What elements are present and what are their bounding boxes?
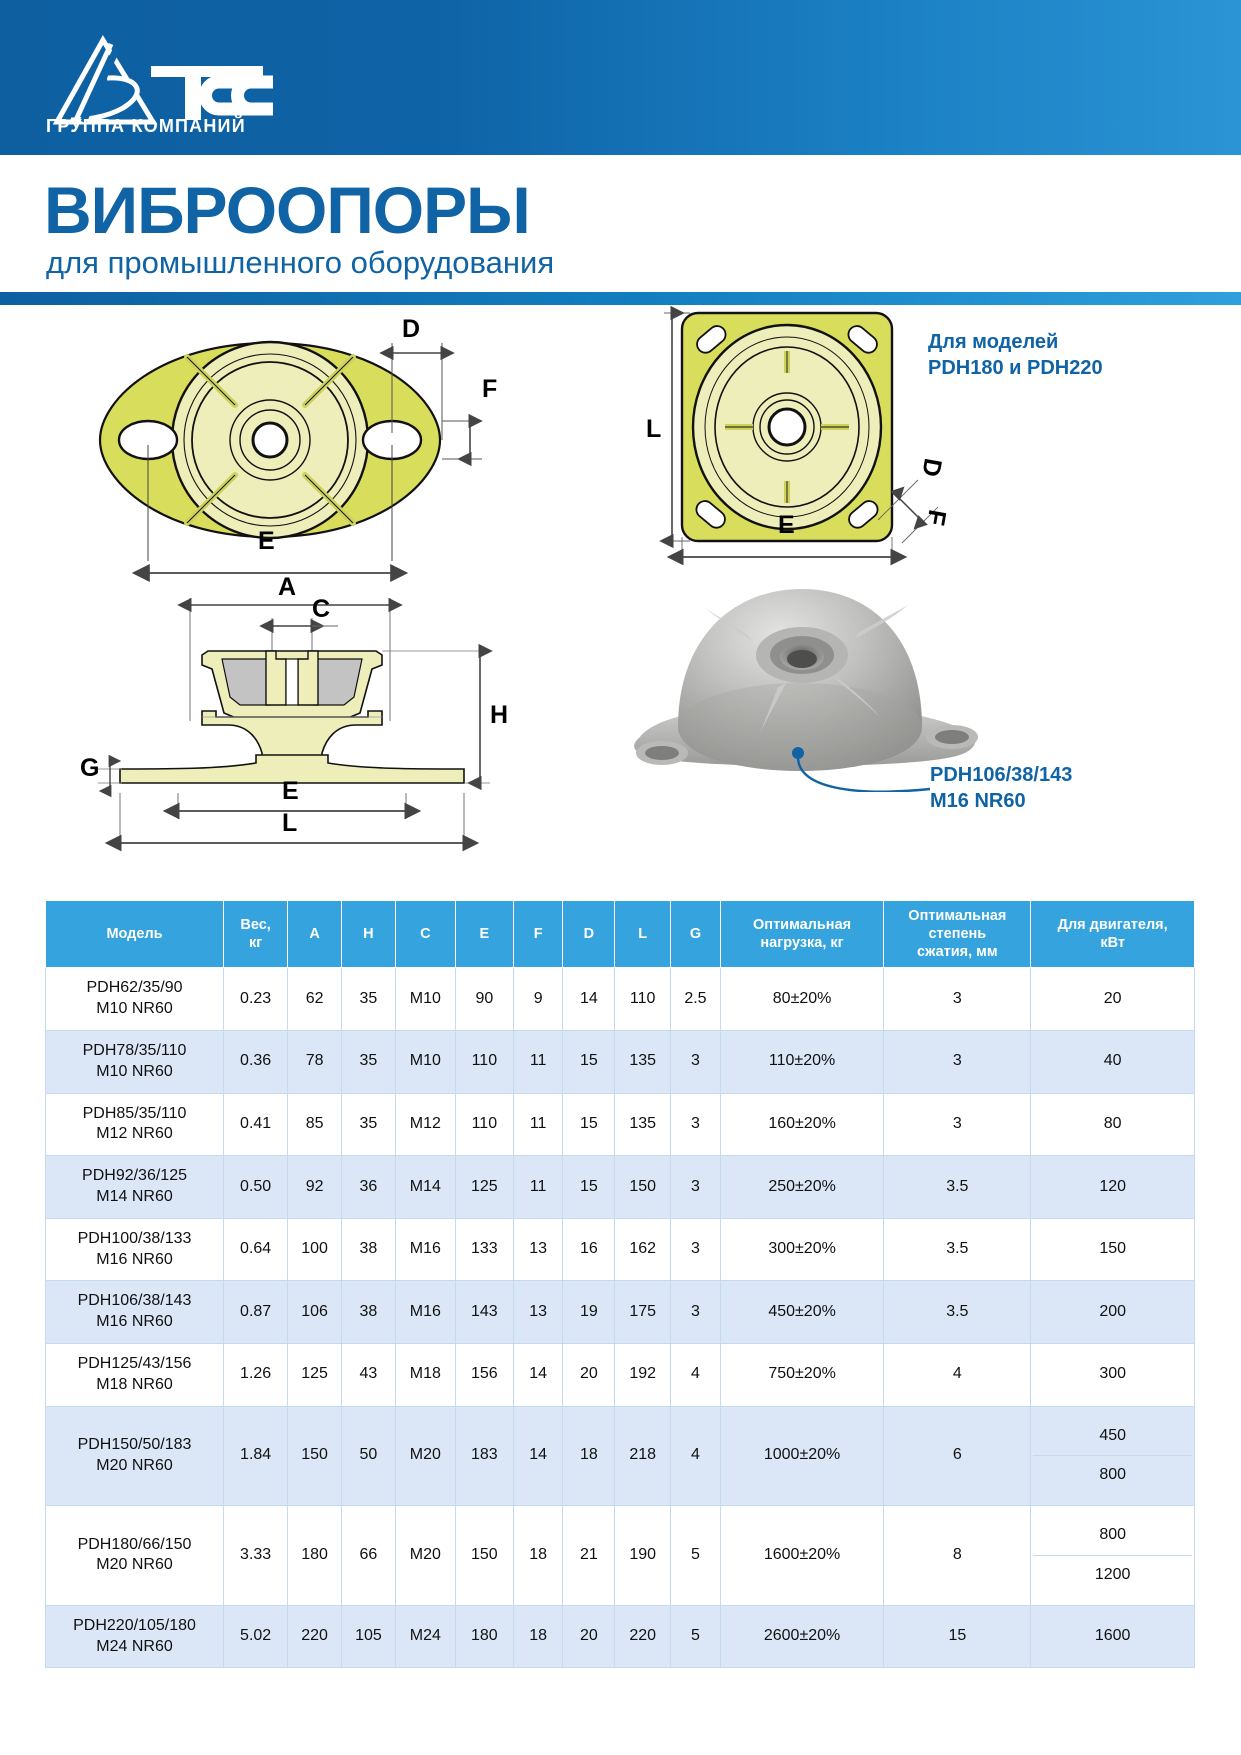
th-d: D xyxy=(563,901,615,968)
th-weight: Вес, кг xyxy=(224,901,288,968)
cell-motor-sub: 1200 xyxy=(1033,1556,1192,1595)
model-line2: M20 NR60 xyxy=(96,1556,172,1573)
cell-c: M10 xyxy=(395,968,455,1031)
model-line2: M24 NR60 xyxy=(96,1638,172,1655)
cell-f: 18 xyxy=(513,1506,563,1606)
cell-motor: 120 xyxy=(1031,1156,1195,1219)
cell-compression: 4 xyxy=(884,1343,1031,1406)
cell-motor-sub: 800 xyxy=(1033,1516,1192,1556)
cell-a: 62 xyxy=(288,968,342,1031)
th-compression-line1: Оптимальная xyxy=(908,908,1006,924)
model-note-line1: Для моделей xyxy=(928,329,1103,355)
model-line2: M16 NR60 xyxy=(96,1251,172,1268)
cell-h: 105 xyxy=(342,1605,396,1668)
cell-model: PDH100/38/133M16 NR60 xyxy=(46,1218,224,1281)
dim-label-c: C xyxy=(312,597,330,622)
cell-c: M12 xyxy=(395,1093,455,1156)
cell-f: 14 xyxy=(513,1406,563,1506)
th-load: Оптимальная нагрузка, кг xyxy=(720,901,884,968)
cell-motor: 1600 xyxy=(1031,1605,1195,1668)
cell-compression: 3.5 xyxy=(884,1156,1031,1219)
model-line1: PDH78/35/110 xyxy=(83,1042,187,1059)
cell-c: M24 xyxy=(395,1605,455,1668)
cell-h: 38 xyxy=(342,1281,396,1344)
datasheet-page: ГРУППА КОМПАНИЙ ВИБРООПОРЫ для промышлен… xyxy=(0,0,1241,1755)
page-title: ВИБРООПОРЫ xyxy=(44,177,530,243)
model-line1: PDH85/35/110 xyxy=(83,1105,187,1122)
th-f: F xyxy=(513,901,563,968)
cell-d: 15 xyxy=(563,1093,615,1156)
cell-f: 18 xyxy=(513,1605,563,1668)
cell-motor: 80 xyxy=(1031,1093,1195,1156)
table-row: PDH150/50/183M20 NR601.8415050M201831418… xyxy=(46,1406,1195,1506)
cell-compression: 8 xyxy=(884,1506,1031,1606)
cell-compression: 3 xyxy=(884,968,1031,1031)
cell-load: 450±20% xyxy=(720,1281,884,1344)
cell-model: PDH220/105/180M24 NR60 xyxy=(46,1605,224,1668)
cell-load: 110±20% xyxy=(720,1030,884,1093)
cell-motor: 300 xyxy=(1031,1343,1195,1406)
cell-g: 2.5 xyxy=(671,968,721,1031)
model-line1: PDH220/105/180 xyxy=(73,1617,196,1634)
model-line1: PDH180/66/150 xyxy=(78,1536,192,1553)
photo-callout-line1: PDH106/38/143 xyxy=(930,762,1072,788)
th-model: Модель xyxy=(46,901,224,968)
cell-e: 90 xyxy=(455,968,513,1031)
header-band: ГРУППА КОМПАНИЙ xyxy=(0,0,1241,155)
cell-weight: 3.33 xyxy=(224,1506,288,1606)
cell-load: 1000±20% xyxy=(720,1406,884,1506)
separator-band xyxy=(0,292,1241,305)
th-compression-line2: степень xyxy=(928,926,986,942)
cell-a: 100 xyxy=(288,1218,342,1281)
cell-model: PDH106/38/143M16 NR60 xyxy=(46,1281,224,1344)
square-dim-e: E xyxy=(650,537,940,572)
th-weight-line1: Вес, xyxy=(240,917,270,933)
th-compression: Оптимальная степень сжатия, мм xyxy=(884,901,1031,968)
cell-motor: 40 xyxy=(1031,1030,1195,1093)
cell-e: 150 xyxy=(455,1506,513,1606)
cell-h: 50 xyxy=(342,1406,396,1506)
cell-model: PDH62/35/90M10 NR60 xyxy=(46,968,224,1031)
cell-h: 35 xyxy=(342,968,396,1031)
dim-label-l-square: L xyxy=(646,417,661,442)
model-line2: M16 NR60 xyxy=(96,1313,172,1330)
cell-l: 175 xyxy=(615,1281,671,1344)
cell-load: 160±20% xyxy=(720,1093,884,1156)
cell-f: 9 xyxy=(513,968,563,1031)
cell-d: 19 xyxy=(563,1281,615,1344)
cell-f: 13 xyxy=(513,1218,563,1281)
cell-model: PDH92/36/125M14 NR60 xyxy=(46,1156,224,1219)
cell-motor-sub: 450 xyxy=(1033,1417,1192,1457)
cell-load: 1600±20% xyxy=(720,1506,884,1606)
model-line1: PDH125/43/156 xyxy=(78,1355,192,1372)
table-row: PDH62/35/90M10 NR600.236235M10909141102.… xyxy=(46,968,1195,1031)
cell-f: 14 xyxy=(513,1343,563,1406)
cell-d: 16 xyxy=(563,1218,615,1281)
cell-motor: 450800 xyxy=(1031,1406,1195,1506)
cell-f: 13 xyxy=(513,1281,563,1344)
table-row: PDH106/38/143M16 NR600.8710638M161431319… xyxy=(46,1281,1195,1344)
cell-model: PDH125/43/156M18 NR60 xyxy=(46,1343,224,1406)
photo-callout: PDH106/38/143 M16 NR60 xyxy=(930,762,1072,815)
cell-a: 85 xyxy=(288,1093,342,1156)
th-g: G xyxy=(671,901,721,968)
cell-d: 20 xyxy=(563,1605,615,1668)
cell-h: 36 xyxy=(342,1156,396,1219)
cell-l: 150 xyxy=(615,1156,671,1219)
cell-d: 18 xyxy=(563,1406,615,1506)
cell-c: M16 xyxy=(395,1281,455,1344)
cell-e: 156 xyxy=(455,1343,513,1406)
cell-h: 38 xyxy=(342,1218,396,1281)
dim-label-f-oval: F xyxy=(482,377,497,402)
cell-weight: 0.64 xyxy=(224,1218,288,1281)
dim-label-h: H xyxy=(490,703,508,728)
cell-a: 150 xyxy=(288,1406,342,1506)
cell-load: 250±20% xyxy=(720,1156,884,1219)
cell-a: 125 xyxy=(288,1343,342,1406)
cell-d: 15 xyxy=(563,1156,615,1219)
cell-load: 750±20% xyxy=(720,1343,884,1406)
cell-compression: 3.5 xyxy=(884,1218,1031,1281)
th-load-line1: Оптимальная xyxy=(753,917,851,933)
th-load-line2: нагрузка, кг xyxy=(760,935,843,951)
cell-h: 35 xyxy=(342,1030,396,1093)
table-row: PDH180/66/150M20 NR603.3318066M201501821… xyxy=(46,1506,1195,1606)
table-row: PDH125/43/156M18 NR601.2612543M181561420… xyxy=(46,1343,1195,1406)
title-zone: ВИБРООПОРЫ для промышленного оборудовани… xyxy=(0,155,1241,292)
cell-l: 162 xyxy=(615,1218,671,1281)
cell-c: M16 xyxy=(395,1218,455,1281)
cell-compression: 6 xyxy=(884,1406,1031,1506)
model-note-line2: PDH180 и PDH220 xyxy=(928,355,1103,381)
cell-f: 11 xyxy=(513,1030,563,1093)
cell-model: PDH180/66/150M20 NR60 xyxy=(46,1506,224,1606)
dim-label-e-section: E xyxy=(282,779,299,804)
table-row: PDH100/38/133M16 NR600.6410038M161331316… xyxy=(46,1218,1195,1281)
model-line2: M20 NR60 xyxy=(96,1457,172,1474)
cell-compression: 15 xyxy=(884,1605,1031,1668)
table-row: PDH78/35/110M10 NR600.367835M10110111513… xyxy=(46,1030,1195,1093)
model-line2: M12 NR60 xyxy=(96,1125,172,1142)
dim-label-l-section: L xyxy=(282,811,297,836)
dim-label-d-oval: D xyxy=(402,317,420,342)
cell-f: 11 xyxy=(513,1156,563,1219)
page-subtitle: для промышленного оборудования xyxy=(46,247,554,278)
cell-l: 190 xyxy=(615,1506,671,1606)
cell-motor: 150 xyxy=(1031,1218,1195,1281)
cell-e: 133 xyxy=(455,1218,513,1281)
model-line2: M14 NR60 xyxy=(96,1188,172,1205)
model-line1: PDH100/38/133 xyxy=(78,1230,192,1247)
cell-l: 135 xyxy=(615,1093,671,1156)
table-header-row: Модель Вес, кг A H C E F D L G Оптимальн… xyxy=(46,901,1195,968)
drawings-area: D F E xyxy=(0,305,1241,810)
dim-label-g: G xyxy=(80,756,99,781)
model-note: Для моделей PDH180 и PDH220 xyxy=(928,329,1103,382)
cell-g: 3 xyxy=(671,1156,721,1219)
cell-a: 92 xyxy=(288,1156,342,1219)
cell-c: M18 xyxy=(395,1343,455,1406)
cross-section-view: A C H G xyxy=(80,593,520,803)
cell-d: 21 xyxy=(563,1506,615,1606)
cell-motor: 20 xyxy=(1031,968,1195,1031)
cell-e: 183 xyxy=(455,1406,513,1506)
model-line1: PDH106/38/143 xyxy=(78,1292,192,1309)
logo-subtitle: ГРУППА КОМПАНИЙ xyxy=(46,116,246,137)
oval-flange-top-view: D F xyxy=(70,305,540,580)
cell-g: 5 xyxy=(671,1605,721,1668)
model-line1: PDH92/36/125 xyxy=(82,1167,187,1184)
cell-model: PDH85/35/110M12 NR60 xyxy=(46,1093,224,1156)
cell-c: M20 xyxy=(395,1406,455,1506)
th-motor-line2: кВт xyxy=(1100,935,1125,951)
cell-motor: 200 xyxy=(1031,1281,1195,1344)
cell-compression: 3 xyxy=(884,1093,1031,1156)
cell-c: M14 xyxy=(395,1156,455,1219)
cell-e: 125 xyxy=(455,1156,513,1219)
oval-dim-e: E xyxy=(70,557,540,592)
cell-a: 180 xyxy=(288,1506,342,1606)
cell-motor: 8001200 xyxy=(1031,1506,1195,1606)
model-line2: M10 NR60 xyxy=(96,1063,172,1080)
section-dims-e-l: E L xyxy=(80,793,520,860)
cell-d: 20 xyxy=(563,1343,615,1406)
th-motor-line1: Для двигателя, xyxy=(1058,917,1168,933)
model-line1: PDH62/35/90 xyxy=(86,979,182,996)
cell-a: 78 xyxy=(288,1030,342,1093)
table-row: PDH92/36/125M14 NR600.509236M14125111515… xyxy=(46,1156,1195,1219)
th-motor: Для двигателя, кВт xyxy=(1031,901,1195,968)
cell-weight: 0.50 xyxy=(224,1156,288,1219)
cell-h: 66 xyxy=(342,1506,396,1606)
cell-weight: 5.02 xyxy=(224,1605,288,1668)
cell-compression: 3 xyxy=(884,1030,1031,1093)
cell-model: PDH78/35/110M10 NR60 xyxy=(46,1030,224,1093)
cell-weight: 1.84 xyxy=(224,1406,288,1506)
spec-table-wrap: Модель Вес, кг A H C E F D L G Оптимальн… xyxy=(45,900,1195,1668)
cell-h: 35 xyxy=(342,1093,396,1156)
cell-compression: 3.5 xyxy=(884,1281,1031,1344)
dim-label-e-square: E xyxy=(778,513,795,538)
th-l: L xyxy=(615,901,671,968)
cell-load: 300±20% xyxy=(720,1218,884,1281)
dim-label-a: A xyxy=(278,575,296,600)
cell-g: 3 xyxy=(671,1281,721,1344)
cell-l: 220 xyxy=(615,1605,671,1668)
cell-load: 2600±20% xyxy=(720,1605,884,1668)
cell-e: 180 xyxy=(455,1605,513,1668)
cell-weight: 0.87 xyxy=(224,1281,288,1344)
cell-model: PDH150/50/183M20 NR60 xyxy=(46,1406,224,1506)
cell-d: 14 xyxy=(563,968,615,1031)
th-compression-line3: сжатия, мм xyxy=(917,944,998,960)
cell-h: 43 xyxy=(342,1343,396,1406)
cell-l: 110 xyxy=(615,968,671,1031)
photo-callout-line2: M16 NR60 xyxy=(930,788,1072,814)
table-row: PDH220/105/180M24 NR605.02220105M2418018… xyxy=(46,1605,1195,1668)
cell-e: 143 xyxy=(455,1281,513,1344)
cell-weight: 0.23 xyxy=(224,968,288,1031)
cell-g: 3 xyxy=(671,1218,721,1281)
th-c: C xyxy=(395,901,455,968)
cell-g: 4 xyxy=(671,1406,721,1506)
cell-c: M20 xyxy=(395,1506,455,1606)
cell-l: 135 xyxy=(615,1030,671,1093)
cell-a: 220 xyxy=(288,1605,342,1668)
th-e: E xyxy=(455,901,513,968)
cell-load: 80±20% xyxy=(720,968,884,1031)
model-line2: M10 NR60 xyxy=(96,1000,172,1017)
cell-weight: 1.26 xyxy=(224,1343,288,1406)
cell-motor-sub: 800 xyxy=(1033,1456,1192,1495)
cell-f: 11 xyxy=(513,1093,563,1156)
cell-e: 110 xyxy=(455,1093,513,1156)
cell-weight: 0.36 xyxy=(224,1030,288,1093)
cell-g: 3 xyxy=(671,1030,721,1093)
spec-table: Модель Вес, кг A H C E F D L G Оптимальн… xyxy=(45,900,1195,1668)
th-h: H xyxy=(342,901,396,968)
cell-a: 106 xyxy=(288,1281,342,1344)
cell-g: 5 xyxy=(671,1506,721,1606)
square-flange-top-view: L D F xyxy=(650,305,940,560)
th-weight-line2: кг xyxy=(249,935,262,951)
th-a: A xyxy=(288,901,342,968)
model-line1: PDH150/50/183 xyxy=(78,1436,192,1453)
cell-g: 4 xyxy=(671,1343,721,1406)
table-row: PDH85/35/110M12 NR600.418535M12110111513… xyxy=(46,1093,1195,1156)
model-line2: M18 NR60 xyxy=(96,1376,172,1393)
cell-c: M10 xyxy=(395,1030,455,1093)
cell-g: 3 xyxy=(671,1093,721,1156)
cell-weight: 0.41 xyxy=(224,1093,288,1156)
table-body: PDH62/35/90M10 NR600.236235M10909141102.… xyxy=(46,968,1195,1668)
dim-label-e-oval: E xyxy=(258,529,275,554)
cell-e: 110 xyxy=(455,1030,513,1093)
cell-l: 218 xyxy=(615,1406,671,1506)
cell-d: 15 xyxy=(563,1030,615,1093)
cell-l: 192 xyxy=(615,1343,671,1406)
